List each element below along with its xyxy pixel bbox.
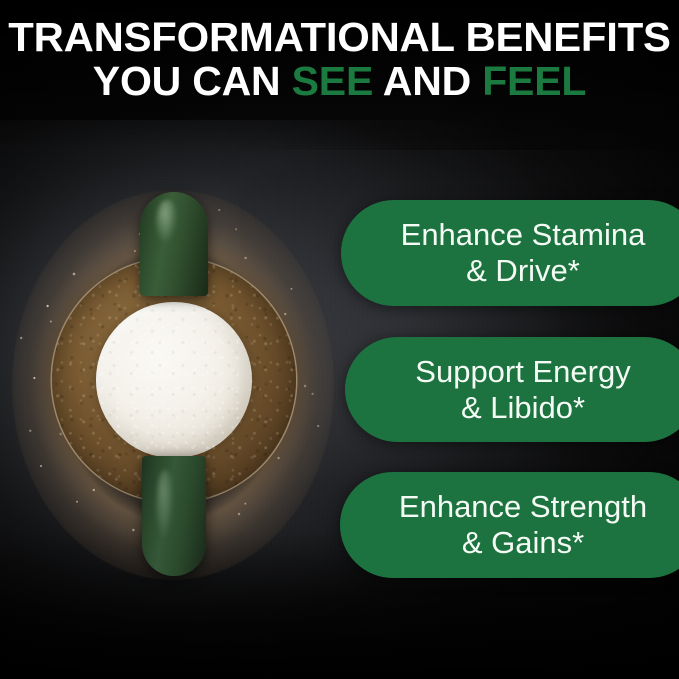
benefit-pill-energy-text: Support Energy & Libido* — [415, 354, 630, 426]
benefit-pill-stamina-line-2: & Drive* — [401, 253, 646, 289]
promo-graphic: TRANSFORMATIONAL BENEFITS YOU CAN SEE AN… — [0, 0, 679, 679]
benefit-pill-energy-line-1: Support Energy — [415, 354, 630, 390]
benefit-pill-strength-line-1: Enhance Strength — [399, 489, 647, 525]
benefit-pill-strength: Enhance Strength & Gains* — [340, 472, 679, 578]
benefit-pill-energy-line-2: & Libido* — [415, 390, 630, 426]
benefit-pill-stamina-text: Enhance Stamina & Drive* — [401, 217, 646, 289]
benefit-pill-strength-text: Enhance Strength & Gains* — [399, 489, 647, 561]
benefit-list: Enhance Stamina & Drive* Support Energy … — [0, 0, 679, 679]
benefit-pill-strength-line-2: & Gains* — [399, 525, 647, 561]
benefit-pill-stamina-line-1: Enhance Stamina — [401, 217, 646, 253]
benefit-pill-stamina: Enhance Stamina & Drive* — [341, 200, 679, 306]
benefit-pill-energy: Support Energy & Libido* — [345, 337, 679, 442]
